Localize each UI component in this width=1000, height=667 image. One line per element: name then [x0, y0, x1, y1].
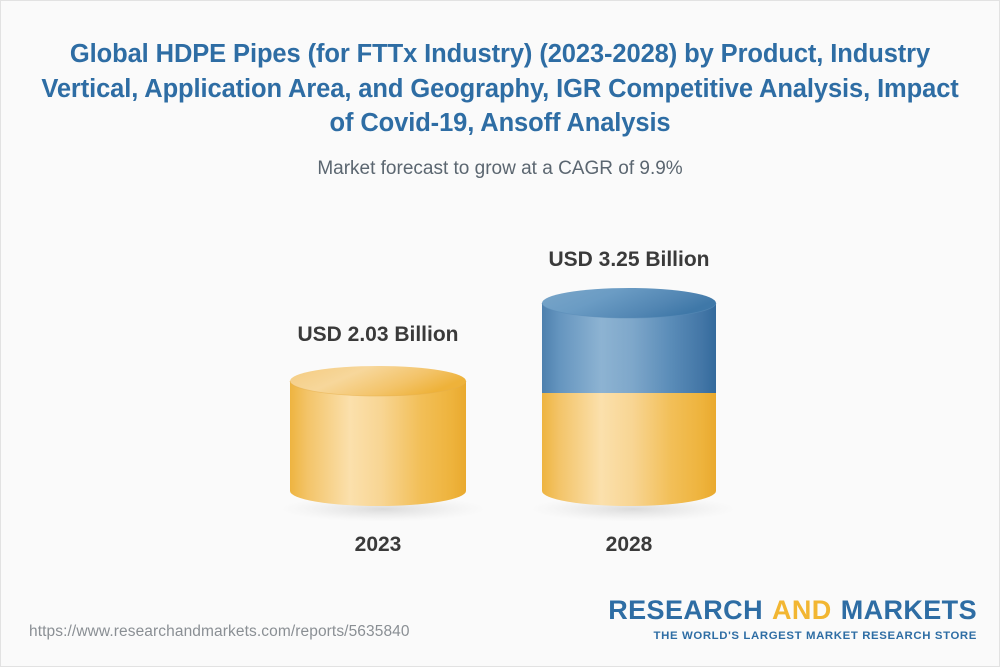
cylinder-2028-growth-segment [542, 303, 716, 393]
cylinder-shadow-2023 [279, 496, 487, 522]
cylinder-2028-base-segment [542, 393, 716, 506]
logo-word-and: AND [772, 595, 832, 625]
header-block: Global HDPE Pipes (for FTTx Industry) (2… [41, 37, 959, 182]
logo-word-research: RESEARCH [608, 595, 763, 625]
cylinder-2023-rim [290, 381, 466, 396]
cylinder-2028-rim [542, 303, 716, 318]
value-label-2023: USD 2.03 Billion [218, 323, 538, 347]
category-label-2028: 2028 [469, 533, 789, 557]
cylinder-2023-top [290, 366, 466, 396]
cylinder-2023 [290, 366, 466, 506]
source-url[interactable]: https://www.researchandmarkets.com/repor… [29, 623, 410, 641]
value-label-2028: USD 3.25 Billion [469, 248, 789, 272]
cylinder-2028-top [542, 288, 716, 318]
logo-tagline: THE WORLD'S LARGEST MARKET RESEARCH STOR… [608, 630, 977, 642]
chart-subtitle: Market forecast to grow at a CAGR of 9.9… [41, 157, 959, 182]
page-title: Global HDPE Pipes (for FTTx Industry) (2… [41, 37, 959, 141]
infographic-canvas: Global HDPE Pipes (for FTTx Industry) (2… [0, 0, 1000, 667]
cylinder-2028 [542, 288, 716, 506]
cylinder-2023-body [290, 381, 466, 506]
logo-word-markets: MARKETS [841, 595, 977, 625]
cylinder-shadow-2028 [529, 496, 737, 522]
brand-logo[interactable]: RESEARCHANDMARKETS THE WORLD'S LARGEST M… [608, 597, 977, 642]
logo-wordmark: RESEARCHANDMARKETS [608, 597, 977, 624]
